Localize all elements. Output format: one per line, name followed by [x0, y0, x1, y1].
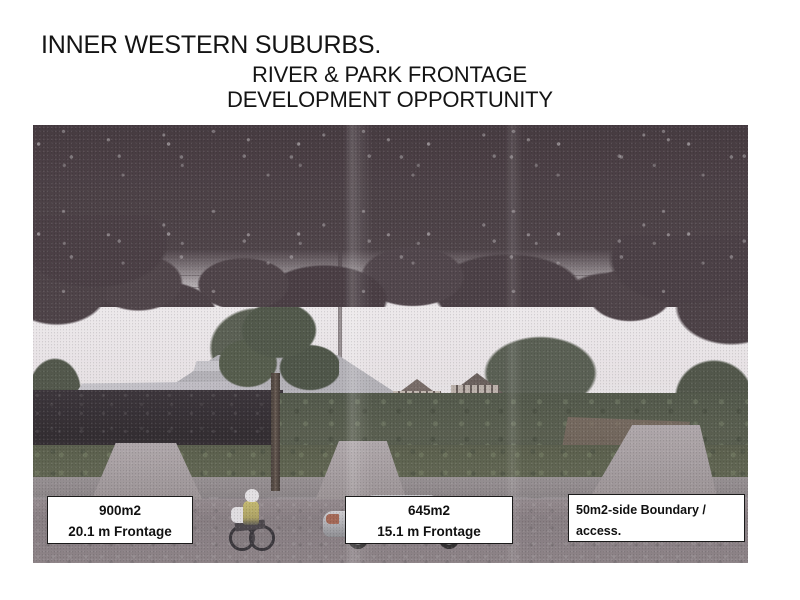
lot-caption-right: 50m2-side Boundary / access. [568, 494, 745, 542]
canopy-highlights [33, 125, 748, 312]
rider-torso [243, 501, 259, 525]
street-tree-trunk [271, 373, 280, 491]
page-title-line-3: DEVELOPMENT OPPORTUNITY [227, 87, 553, 113]
sedan-tail-lamp [326, 514, 339, 524]
lot-area-middle: 645m2 [346, 501, 512, 522]
rider-helmet [245, 489, 259, 502]
lot-frontage-left: 20.1 m Frontage [48, 522, 192, 543]
page-title-line-2: RIVER & PARK FRONTAGE [252, 62, 527, 88]
title-block: INNER WESTERN SUBURBS. RIVER & PARK FRON… [0, 0, 800, 120]
page-title-line-1: INNER WESTERN SUBURBS. [41, 31, 381, 60]
lot-caption-middle: 645m2 15.1 m Frontage [345, 496, 513, 544]
lot-caption-left: 900m2 20.1 m Frontage [47, 496, 193, 544]
motorcycle-and-rider [229, 485, 275, 547]
side-boundary-access: access. [576, 521, 744, 542]
lot-area-left: 900m2 [48, 501, 192, 522]
lot-frontage-middle: 15.1 m Frontage [346, 522, 512, 543]
side-boundary-area: 50m2-side Boundary / [576, 500, 744, 521]
